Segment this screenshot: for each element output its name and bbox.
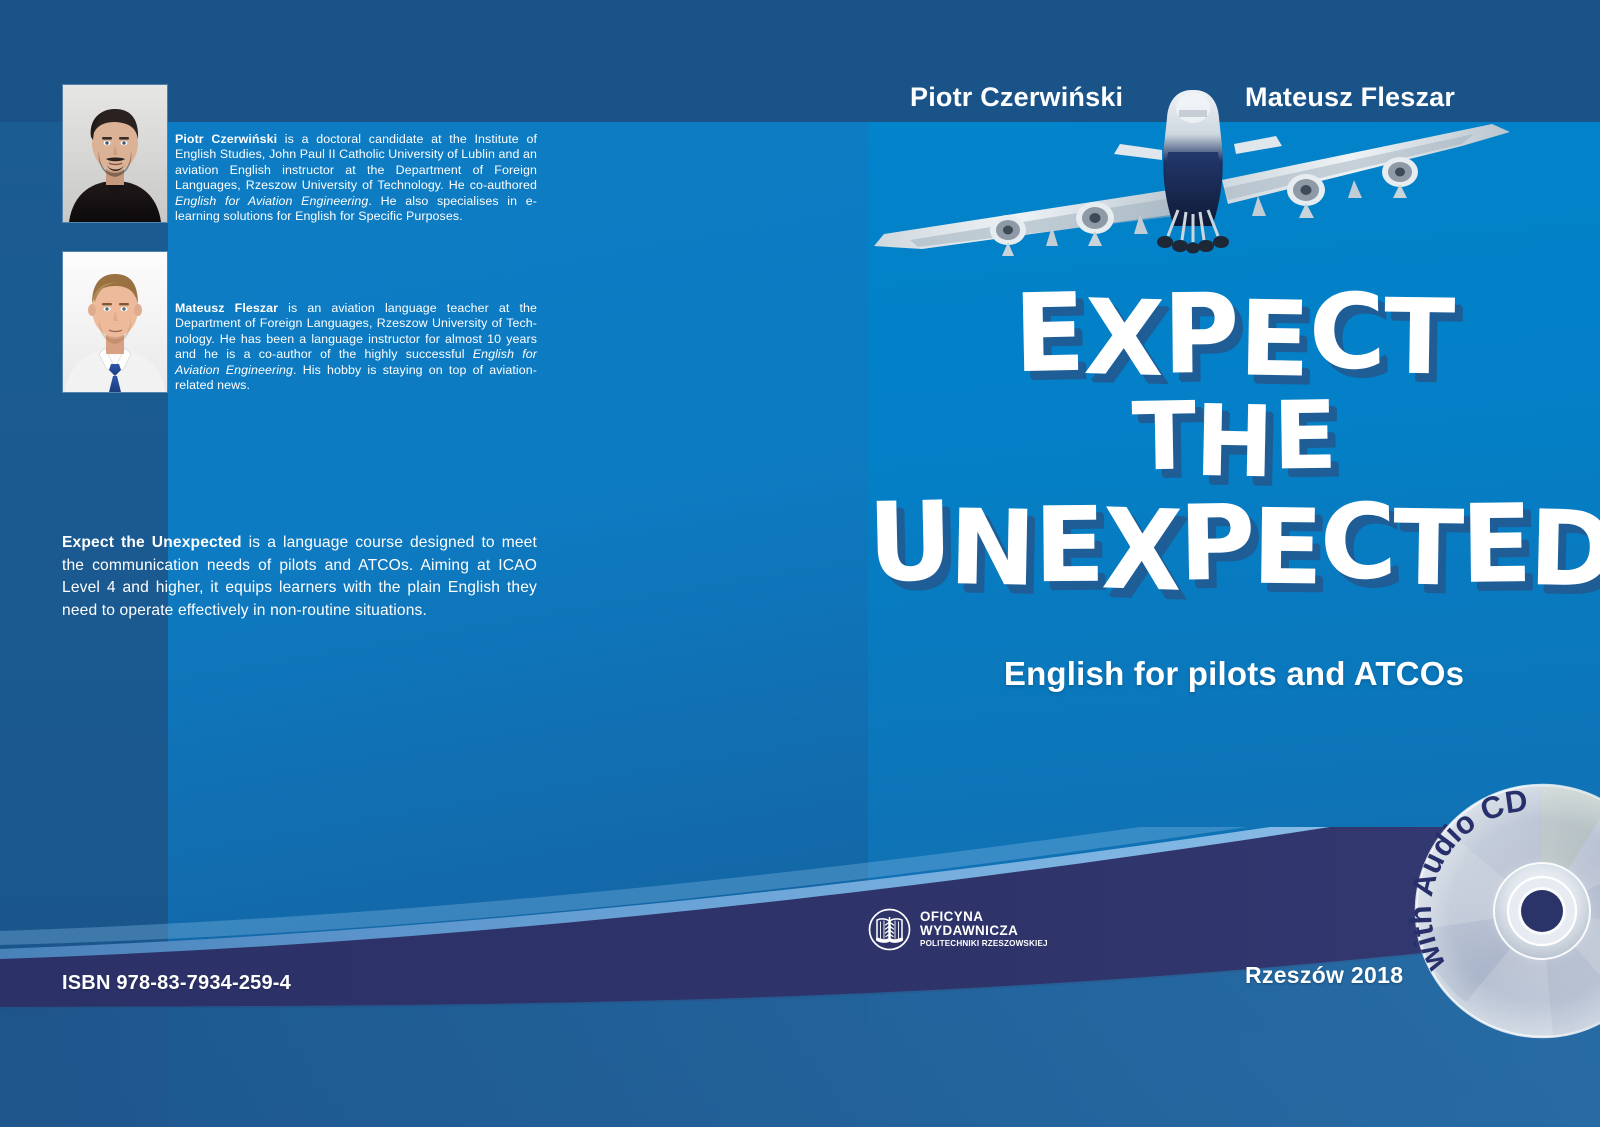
publisher-logo: OFICYNA WYDAWNICZA POLITECHNIKI RZESZOWS…: [868, 908, 1048, 951]
front-author-2: Mateusz Fleszar: [1245, 82, 1455, 113]
title-line-the: THE: [868, 392, 1600, 488]
publisher-line-1: OFICYNA: [920, 910, 1048, 924]
front-author-2-label: Mateusz Fleszar: [1245, 82, 1455, 112]
author-bio-name: Piotr Czerwiński: [175, 132, 277, 146]
front-title-block: EXPECT THE UNEXPECTED: [868, 286, 1600, 598]
book-cover-spread: Piotr Czerwiński is a doctoral candidate…: [0, 0, 1600, 1127]
author-bio-piotr-czerwinski: Piotr Czerwiński is a doctoral candidate…: [175, 132, 537, 224]
author-photo-mateusz-fleszar: [63, 252, 167, 392]
audio-cd-badge: with Audio CD: [1413, 782, 1600, 1040]
back-cover-blurb: Expect the Unexpected is a language cour…: [62, 532, 537, 622]
blurb-lead-title: Expect the Unexpected: [62, 534, 242, 551]
front-author-1: Piotr Czerwiński: [910, 82, 1123, 113]
city-year-label: Rzeszów 2018: [1245, 962, 1403, 989]
author-bio-italic-title: English for Aviation Engineering: [175, 194, 368, 208]
book-wheat-emblem-icon: [868, 908, 911, 951]
title-line-expect: EXPECT: [868, 286, 1600, 386]
author-bio-mateusz-fleszar: Mateusz Fleszar is an aviation language …: [175, 301, 537, 393]
author-bio-name: Mateusz Fleszar: [175, 301, 278, 315]
publisher-line-2: WYDAWNICZA: [920, 924, 1048, 938]
front-author-1-label: Piotr Czerwiński: [910, 82, 1123, 112]
author-photo-piotr-czerwinski: [63, 85, 167, 222]
title-line-unexpected: UNEXPECTED: [868, 494, 1600, 598]
front-subtitle: English for pilots and ATCOs: [868, 655, 1600, 693]
publisher-line-3: POLITECHNIKI RZESZOWSKIEJ: [920, 940, 1048, 949]
isbn-text: ISBN 978-83-7934-259-4: [62, 972, 291, 995]
